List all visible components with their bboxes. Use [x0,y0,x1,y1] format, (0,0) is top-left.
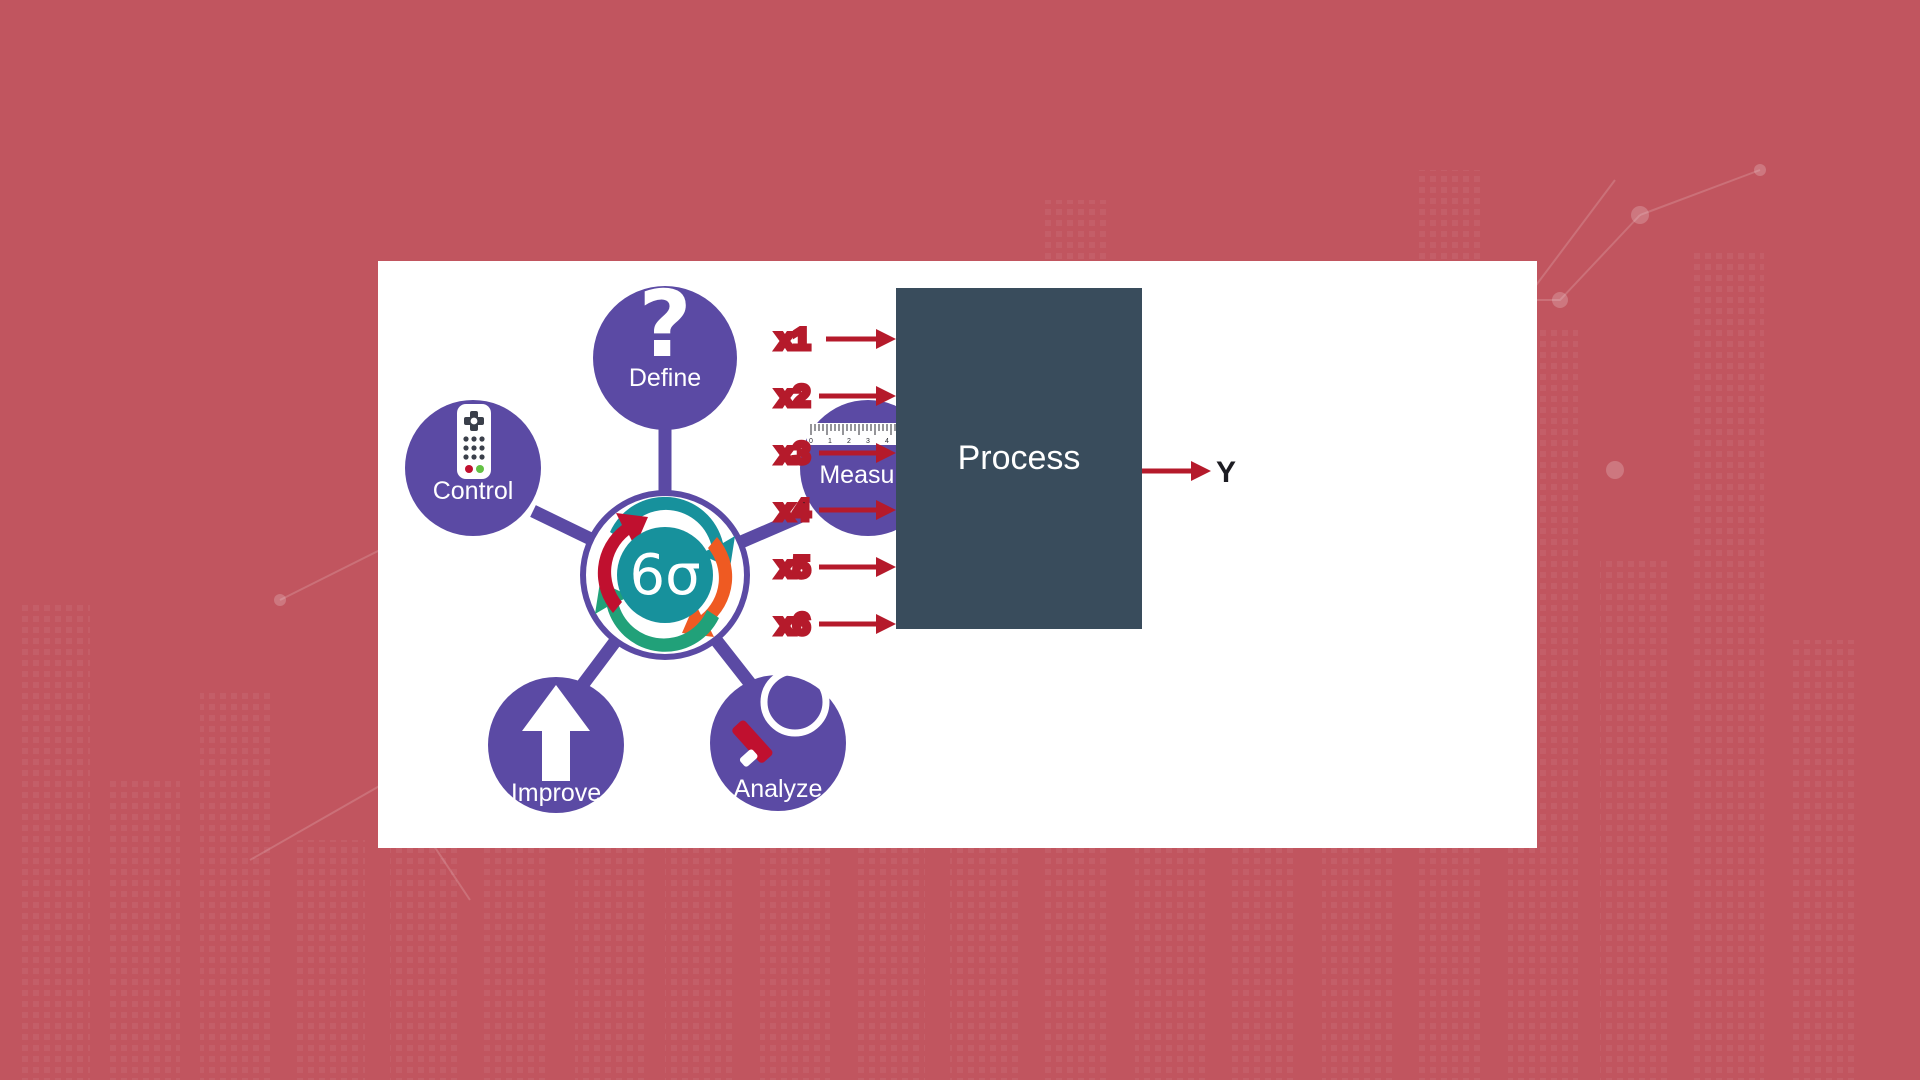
process-output: Y [1142,456,1236,489]
control-label: Control [433,477,514,505]
diagram-canvas: ? Define Control [378,261,1537,848]
svg-text:?: ? [638,271,691,378]
input-label-x2: x2 [777,380,810,413]
input-label-x3: x3 [777,437,810,470]
remote-control-icon [457,404,491,479]
define-label: Define [629,364,701,392]
dmaic-node-analyze[interactable]: Analyze [710,671,846,811]
question-mark-icon: ? [638,271,691,378]
six-sigma-symbol: 6σ [629,543,700,608]
dmaic-node-define[interactable]: ? Define [593,271,737,430]
dmaic-node-improve[interactable]: Improve [488,677,624,813]
analyze-label: Analyze [734,775,823,803]
output-label-y: Y [1216,456,1236,489]
input-row-x5: x5 [777,551,896,584]
input-row-x1: x1 [777,323,896,356]
diagram-card: ? Define Control [378,261,1537,848]
dmaic-node-control[interactable]: Control [405,400,541,536]
ruler-tick-4: 4 [885,438,889,445]
six-sigma-hub[interactable]: 6σ [583,493,747,657]
input-label-x1: x1 [777,323,810,356]
input-label-x4: x4 [777,494,811,527]
ruler-tick-1: 1 [828,438,832,445]
ruler-tick-3: 3 [866,438,870,445]
ruler-tick-2: 2 [847,438,851,445]
improve-label: Improve [511,779,601,807]
input-label-x5: x5 [777,551,810,584]
input-label-x6: x6 [777,608,810,641]
process-box-label: Process [958,439,1081,477]
input-row-x6: x6 [777,608,896,641]
